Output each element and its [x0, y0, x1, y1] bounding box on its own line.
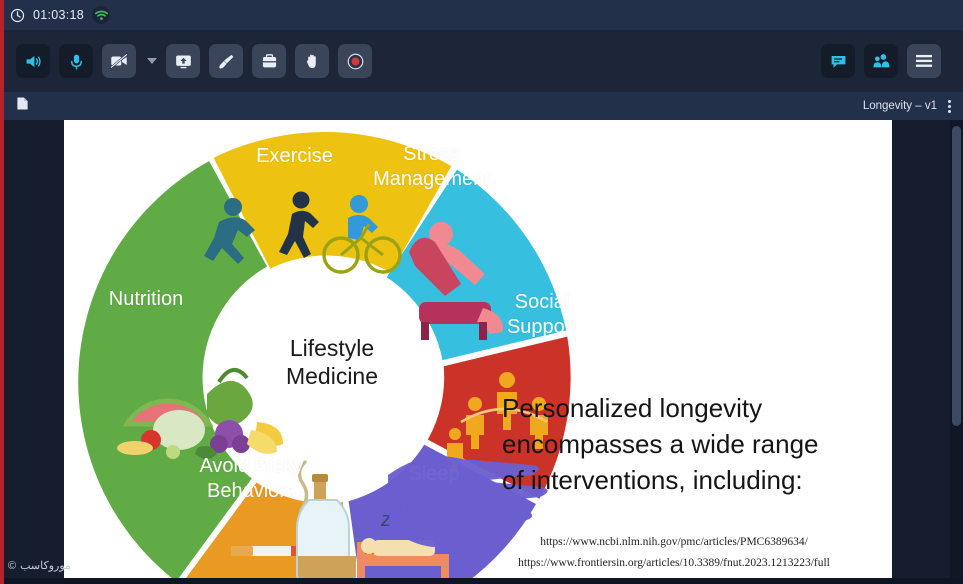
people-icon: [871, 51, 891, 71]
watermark-text: موروکاسب: [20, 559, 71, 572]
wheel-center-label: Lifestyle Medicine: [217, 334, 447, 390]
slide-stage: z z z: [4, 120, 963, 584]
slide-body-text: Personalized longevity encompasses a wid…: [502, 390, 892, 498]
chat-button[interactable]: [821, 44, 855, 78]
document-icon[interactable]: [16, 96, 29, 116]
toolbar-left-group: [16, 44, 372, 78]
copyright-icon: ©: [8, 560, 16, 572]
screen-share-button[interactable]: [166, 44, 200, 78]
document-bar-right: Longevity – v1: [863, 98, 953, 115]
microphone-button[interactable]: [59, 44, 93, 78]
document-bar: Longevity – v1: [4, 92, 963, 120]
participants-button[interactable]: [864, 44, 898, 78]
body-line-2: encompasses a wide range: [502, 426, 892, 462]
session-timer: 01:03:18: [33, 8, 84, 22]
speaker-icon: [24, 52, 43, 71]
toolbar-right-group: [821, 44, 941, 78]
bottom-strip: [0, 578, 963, 584]
source-link-1: https://www.ncbi.nlm.nih.gov/pmc/article…: [464, 532, 884, 553]
camera-off-button[interactable]: [102, 44, 136, 78]
camera-options-chevron-down-icon[interactable]: [147, 58, 157, 64]
svg-text:z: z: [406, 496, 414, 511]
slide-sources: https://www.ncbi.nlm.nih.gov/pmc/article…: [464, 532, 884, 574]
svg-text:z: z: [380, 509, 391, 531]
menu-button[interactable]: [907, 44, 941, 78]
status-bar: 01:03:18: [0, 0, 963, 30]
draw-button[interactable]: [209, 44, 243, 78]
briefcase-icon: [260, 52, 279, 71]
watermark: موروکاسب ©: [8, 559, 71, 572]
chat-bubble-icon: [829, 52, 848, 71]
speaker-button[interactable]: [16, 44, 50, 78]
clock-icon: [10, 8, 25, 23]
meeting-toolbar: [4, 30, 963, 92]
briefcase-button[interactable]: [252, 44, 286, 78]
hamburger-icon: [914, 53, 934, 69]
lifestyle-medicine-wheel: z z z: [69, 122, 589, 584]
record-icon: [346, 52, 365, 71]
document-title: Longevity – v1: [863, 100, 937, 112]
svg-text:z: z: [394, 503, 403, 520]
scrollbar-thumb[interactable]: [952, 126, 961, 426]
camera-off-icon: [109, 51, 129, 71]
left-accent-edge: [0, 0, 4, 584]
body-line-1: Personalized longevity: [502, 390, 892, 426]
kebab-menu-icon[interactable]: [946, 98, 953, 115]
raise-hand-button[interactable]: [295, 44, 329, 78]
slide-canvas[interactable]: z z z: [64, 120, 892, 584]
wheel-center-line-2: Medicine: [217, 362, 447, 390]
wifi-signal-icon: [92, 6, 110, 24]
brush-icon: [217, 52, 236, 71]
record-button[interactable]: [338, 44, 372, 78]
screen-share-icon: [174, 52, 193, 71]
source-link-2: https://www.frontiersin.org/articles/10.…: [464, 553, 884, 574]
body-line-3: of interventions, including:: [502, 462, 892, 498]
microphone-icon: [67, 52, 86, 71]
wheel-center-line-1: Lifestyle: [217, 334, 447, 362]
hand-icon: [303, 52, 322, 71]
